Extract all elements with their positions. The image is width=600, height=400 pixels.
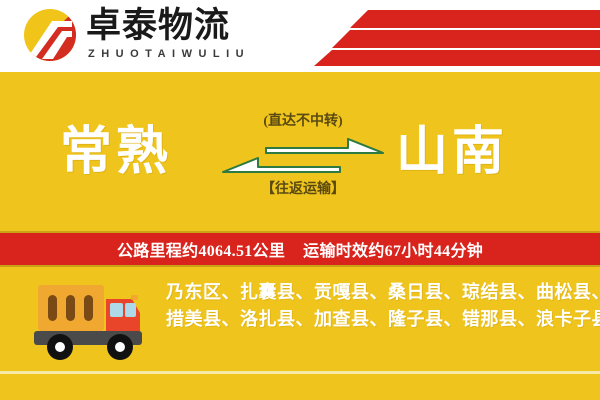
- brand-name-pinyin: ZHUOTAIWULIU: [88, 48, 250, 60]
- round-trip-note: 【往返运输】: [218, 178, 388, 198]
- coverage-section: 乃东区、扎囊县、贡嘎县、桑日县、琼结县、曲松县、 措美县、洛扎县、加查县、隆子县…: [0, 267, 600, 400]
- bottom-divider-rule: [0, 371, 600, 374]
- logistics-route-banner: 卓泰物流 ZHUOTAIWULIU 常熟 (直达不中转): [0, 0, 600, 400]
- destination-city-name: 山南: [396, 124, 508, 182]
- banner-header: 卓泰物流 ZHUOTAIWULIU: [0, 0, 600, 72]
- zhuotai-circle-logo-icon: [22, 7, 78, 63]
- bidirectional-arrow-icon: [218, 136, 388, 176]
- delivery-truck-icon: [28, 277, 158, 367]
- coverage-line: 乃东区、扎囊县、贡嘎县、桑日县、琼结县、曲松县、: [166, 279, 590, 306]
- direct-service-note: (直达不中转): [218, 110, 388, 130]
- route-arrow-block: (直达不中转) 【往返运输】: [218, 110, 388, 202]
- duration-text: 运输时效约67小时44分钟: [303, 237, 483, 261]
- route-info-bar-wrapper: 公路里程约4064.51公里 运输时效约67小时44分钟: [0, 231, 600, 267]
- brand-name-cn: 卓泰物流: [86, 6, 230, 46]
- header-red-stripes-decoration: [270, 8, 600, 66]
- route-info-bar: 公路里程约4064.51公里 运输时效约67小时44分钟: [0, 233, 600, 265]
- distance-text: 公路里程约4064.51公里: [117, 237, 285, 261]
- coverage-area-list: 乃东区、扎囊县、贡嘎县、桑日县、琼结县、曲松县、 措美县、洛扎县、加查县、隆子县…: [166, 279, 590, 333]
- route-section: 常熟 (直达不中转) 【往返运输】 山南: [0, 72, 600, 233]
- origin-city-name: 常熟: [60, 124, 172, 182]
- coverage-line: 措美县、洛扎县、加查县、隆子县、错那县、浪卡子县: [166, 306, 590, 333]
